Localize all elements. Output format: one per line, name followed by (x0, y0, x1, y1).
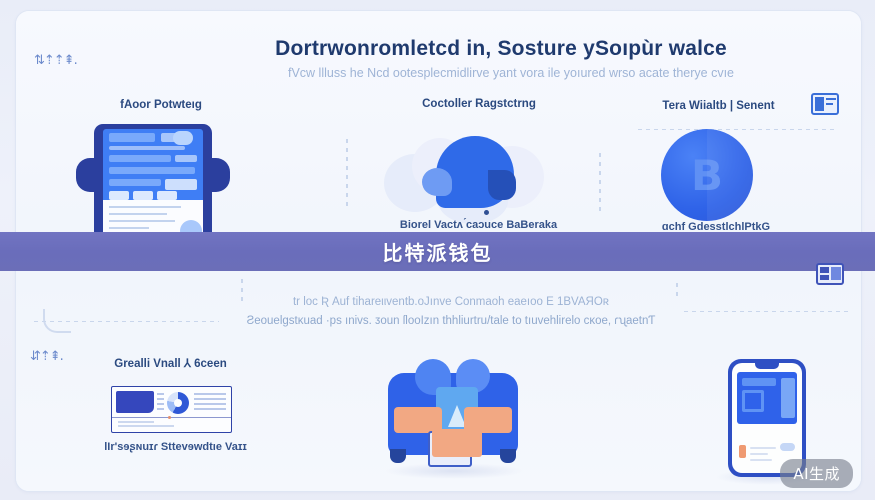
divider-dotted-vertical-3 (241, 279, 243, 301)
decorative-glyph-cluster-top-left: ⇅⇡⇡⇞. (34, 53, 77, 68)
chat-blob-tail (488, 170, 516, 200)
phone-notch (755, 363, 779, 369)
person-with-device-icon (388, 359, 518, 471)
analytics-card-icon (111, 386, 232, 433)
phone-screen (732, 363, 802, 473)
person-foot-right (500, 449, 516, 463)
bottom-column-1-title: Grealli Vnall ⅄ 6ceen (98, 356, 243, 370)
analytics-card-block (116, 391, 154, 413)
hero-title: Dortrwonromletcd in, Sosture ySoıpùr wal… (261, 37, 741, 61)
divider-dotted-vertical-1 (346, 139, 348, 209)
ai-generated-watermark: AI生成 (780, 459, 853, 488)
middle-text-line-1: tr loc Ʀ Аuf tihareιιventb.oJınve Conmao… (226, 296, 676, 308)
decorative-swirl-icon (43, 309, 71, 333)
page-background: ⇅⇡⇡⇞. Dortrwonromletcd in, Sosture ySoıp… (0, 0, 875, 500)
top-column-2-title: Coctoller Ragstctrng (389, 98, 569, 110)
person-foot-left (390, 449, 406, 463)
analytics-pie-chart (167, 392, 189, 414)
wallet-name-banner: 比特派钱包 (0, 232, 875, 271)
person-lap (432, 429, 482, 457)
top-column-2-caption: Biorel Vactʌ ́caɔuce BaBeraka (346, 219, 611, 231)
bottom-column-1-caption: lIr'sɘʂɴuɪɾ Sttevɘwdtıe Vaɪɪ (78, 441, 273, 453)
token-letter-glyph: B (661, 129, 753, 221)
divider-dotted-horizontal-right (684, 311, 849, 312)
phone-pill-badge (780, 443, 795, 451)
banner-title: 比特派钱包 (383, 237, 493, 266)
divider-dotted-vertical-4 (676, 283, 678, 301)
chat-blob-dot (484, 210, 489, 215)
chat-blob-secondary (422, 168, 452, 196)
phone-accent-chip (739, 445, 746, 458)
top-column-1-title: fAoor Potwteıg (96, 99, 226, 111)
phone-top-panel (737, 372, 797, 424)
wallet-card-icon-right (816, 263, 844, 285)
divider-dotted-vertical-2 (599, 153, 601, 215)
blue-token-circle-icon: B (661, 129, 753, 221)
wallet-card-icon-top-right (811, 93, 839, 115)
hero-subtitle: fVcw llluss he Ncd ootesplecmidlirve yan… (201, 66, 821, 80)
decorative-glyph-cluster-bottom-left: ⇵⇡⇞. (30, 349, 63, 364)
middle-text-line-2: Ƨeouelgstκuad ·ps ınivs. ᴣoun ſlooIᴢın t… (211, 315, 691, 327)
top-column-3-title: Tera Wiialtb | Senent (626, 100, 811, 112)
